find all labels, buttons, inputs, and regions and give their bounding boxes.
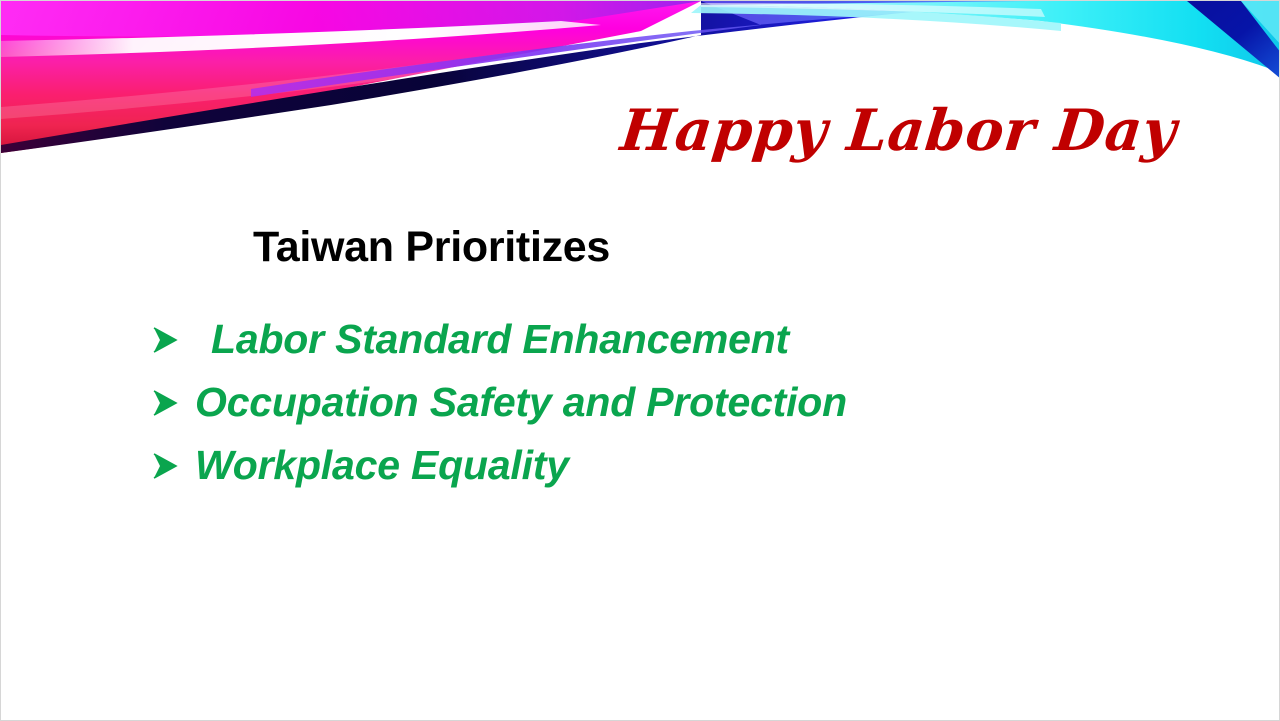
- swoosh-separator: [701, 3, 1045, 17]
- list-item: Labor Standard Enhancement: [151, 308, 1211, 371]
- swoosh-cyan-sliver: [691, 5, 1061, 31]
- section-heading: Taiwan Prioritizes: [253, 223, 610, 272]
- list-item-label: Workplace Equality: [195, 445, 569, 486]
- list-item: Occupation Safety and Protection: [151, 371, 1211, 434]
- list-item: Workplace Equality: [151, 434, 1211, 497]
- swoosh-cyan-tail: [1241, 1, 1280, 45]
- arrowhead-bullet-icon: [151, 449, 181, 483]
- arrowhead-bullet-icon: [151, 323, 181, 357]
- swoosh-white-streak: [1, 21, 601, 57]
- list-item-label: Occupation Safety and Protection: [195, 382, 847, 423]
- swoosh-pink-top: [1, 1, 701, 37]
- list-item-label: Labor Standard Enhancement: [211, 319, 789, 360]
- title-block: Happy Labor Day: [1, 101, 1176, 161]
- slide-canvas: Happy Labor Day Taiwan Prioritizes Labor…: [0, 0, 1280, 721]
- bullet-list: Labor Standard Enhancement Occupation Sa…: [151, 308, 1211, 497]
- swoosh-violet-haze: [251, 1, 1081, 97]
- swoosh-cyan-sweep: [701, 1, 1280, 73]
- swoosh-deepblue-band: [1187, 1, 1280, 79]
- page-title: Happy Labor Day: [618, 101, 1180, 161]
- arrowhead-bullet-icon: [151, 386, 181, 420]
